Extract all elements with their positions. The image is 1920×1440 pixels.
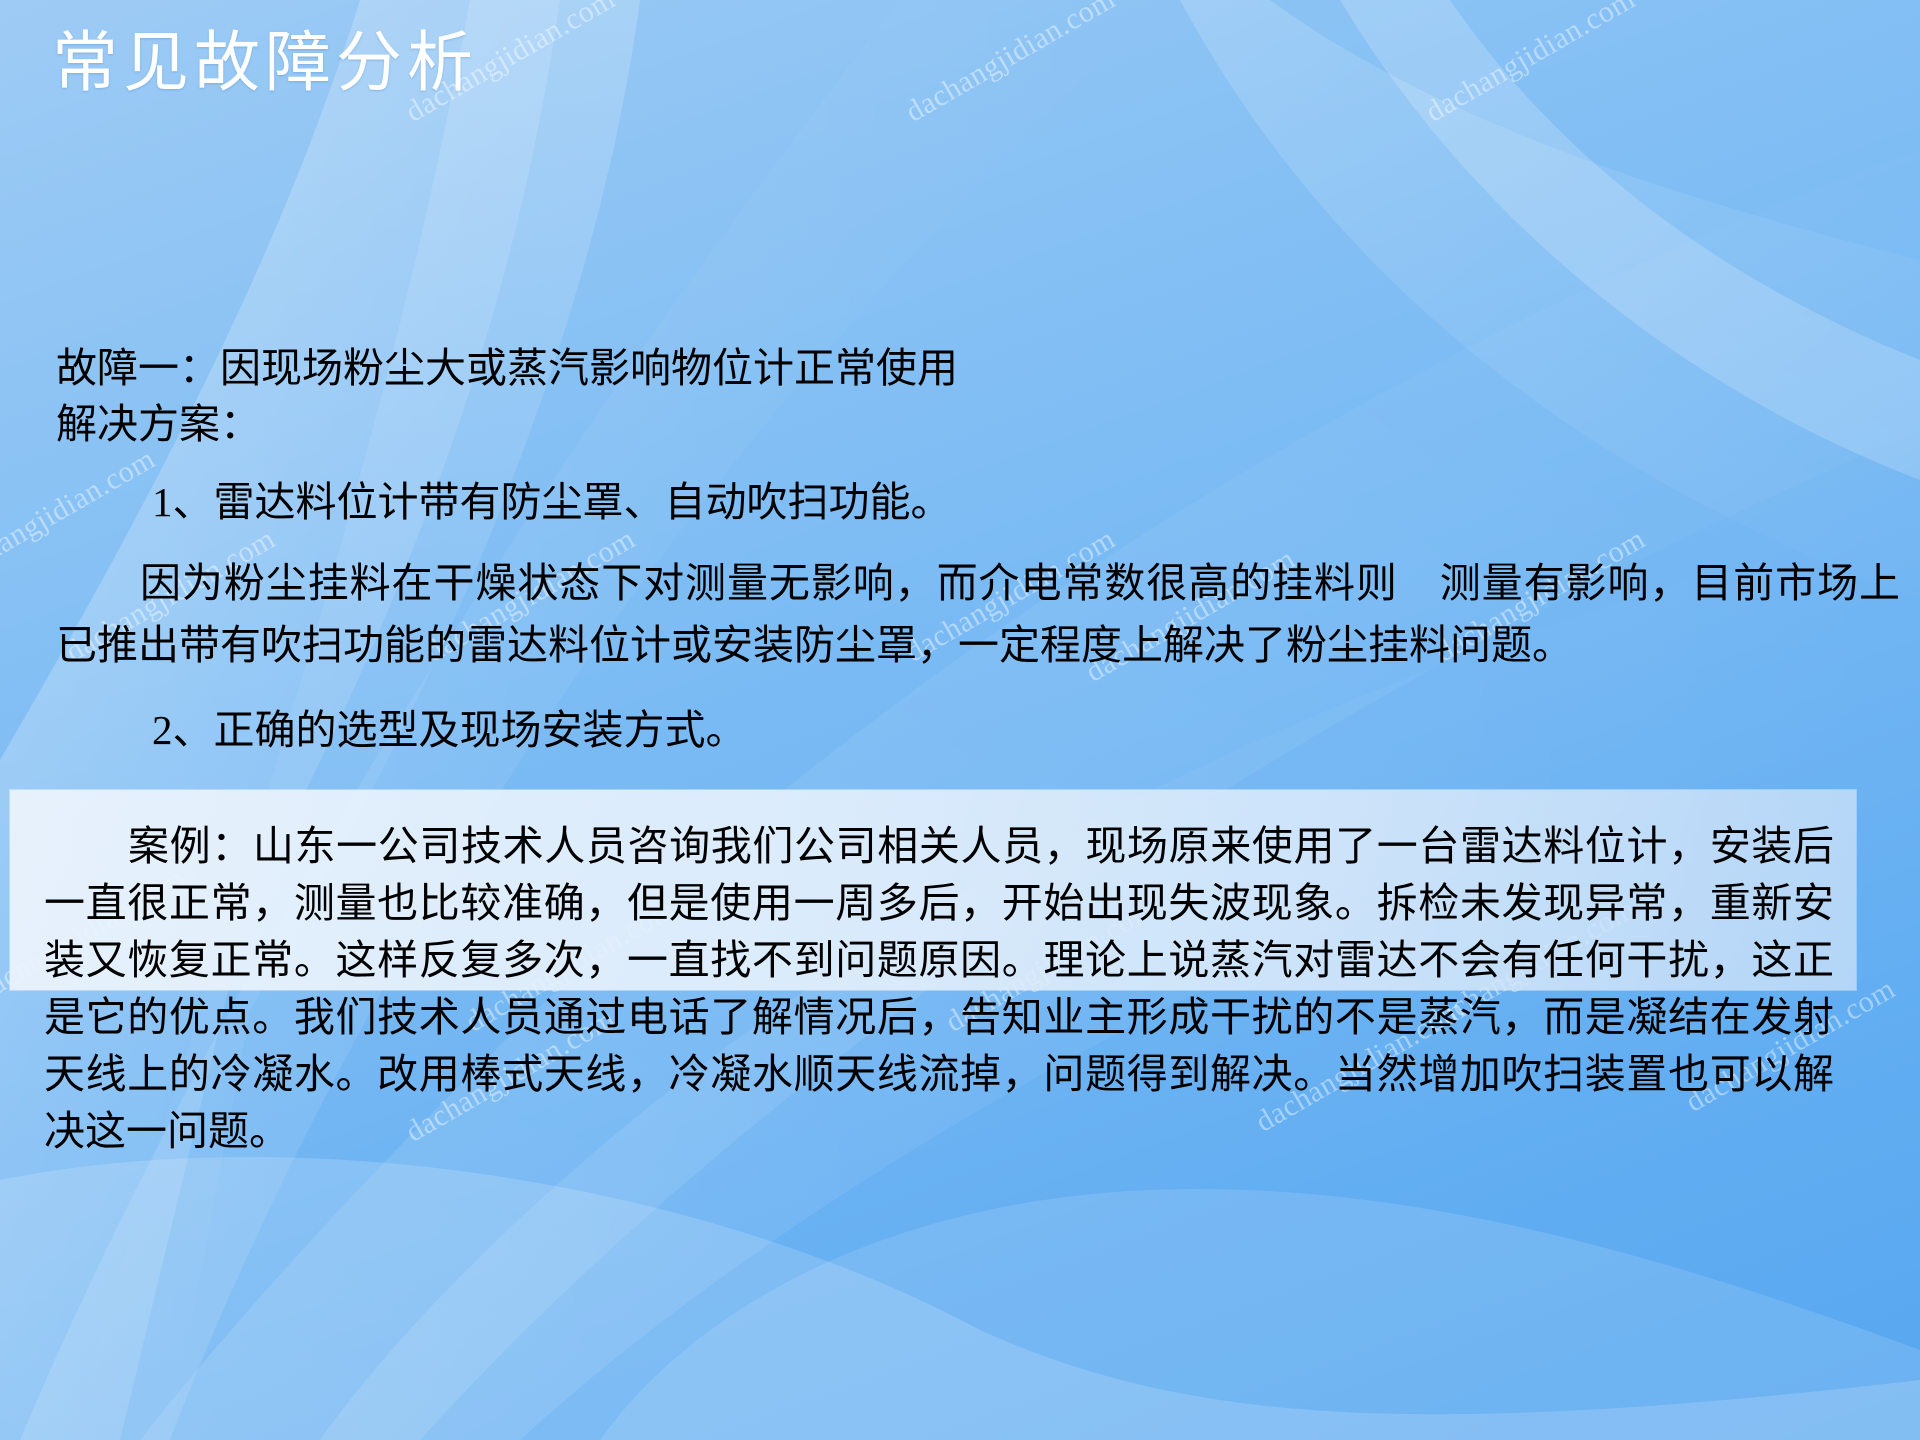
explanation-paragraph: 因为粉尘挂料在干燥状态下对测量无影响，而介电常数很高的挂料则 测量有影响，目前市… — [0, 552, 1920, 676]
case-study-text: 案例：山东一公司技术人员咨询我们公司相关人员，现场原来使用了一台雷达料位计，安装… — [10, 800, 1856, 1170]
slide-body: 故障一：因现场粉尘大或蒸汽影响物位计正常使用 解决方案： 1、雷达料位计带有防尘… — [0, 340, 1920, 758]
solution-item-1: 1、雷达料位计带有防尘罩、自动吹扫功能。 — [0, 474, 1920, 530]
solution-label: 解决方案： — [0, 396, 1920, 452]
fault-heading: 故障一：因现场粉尘大或蒸汽影响物位计正常使用 — [0, 340, 1920, 396]
page-title: 常见故障分析 — [52, 28, 478, 101]
case-study-label: 案例： — [44, 823, 253, 869]
solution-item-2: 2、正确的选型及现场安装方式。 — [0, 702, 1920, 758]
slide-canvas: dachangjidian.comdachangjidian.comdachan… — [0, 0, 1920, 1440]
explanation-paragraph-lead: 因为粉尘挂料在干燥状态下对测量无影响，而介电常数很高的挂料则 — [56, 560, 1398, 606]
case-study-body: 山东一公司技术人员咨询我们公司相关人员，现场原来使用了一台雷达料位计，安装后一直… — [44, 823, 1834, 1154]
